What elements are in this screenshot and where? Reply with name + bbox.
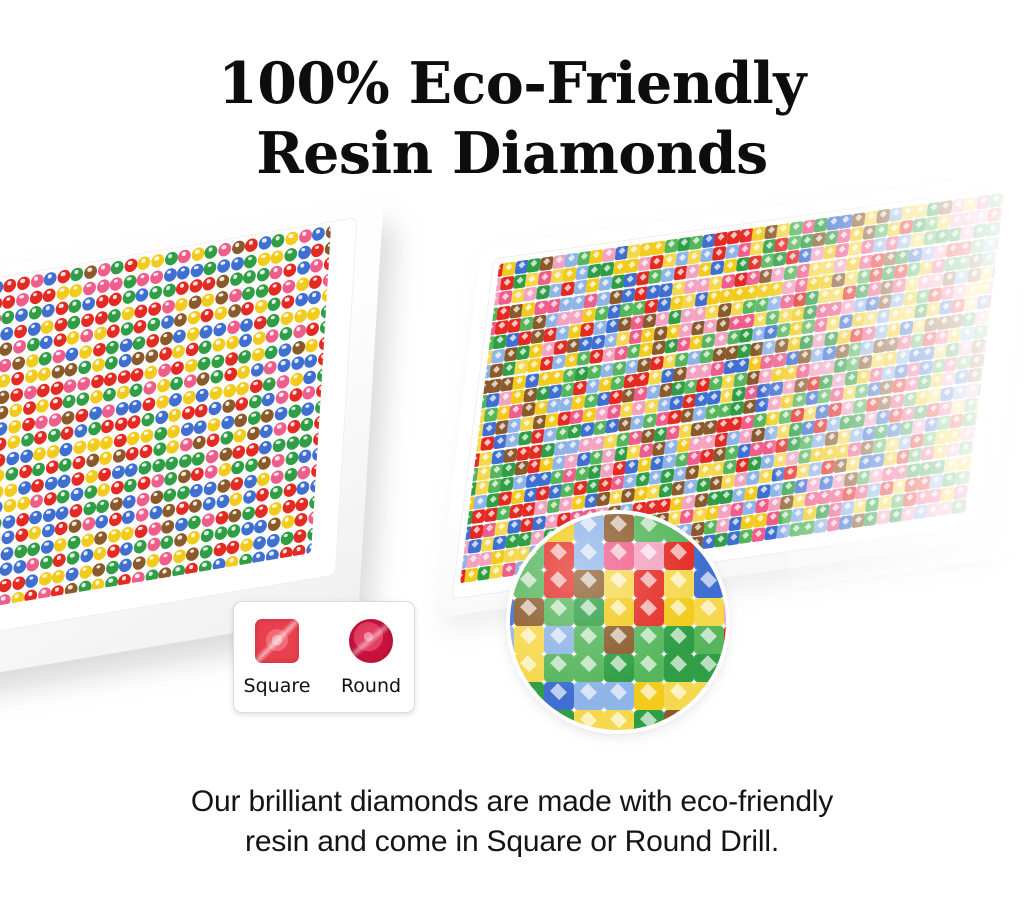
round-drill-bead bbox=[302, 385, 316, 400]
square-drill-bead bbox=[591, 335, 606, 350]
round-drill-bead bbox=[8, 418, 22, 433]
round-drill-bead bbox=[222, 398, 236, 413]
square-drill-bead bbox=[849, 227, 864, 242]
round-drill-bead bbox=[119, 557, 133, 572]
round-drill-bead bbox=[230, 256, 244, 271]
round-drill-bead bbox=[127, 430, 141, 445]
round-drill-bead bbox=[223, 383, 237, 398]
round-drill-bead bbox=[265, 344, 279, 359]
square-drill-bead bbox=[842, 285, 857, 300]
round-drill-bead bbox=[176, 500, 190, 515]
square-drill-bead bbox=[520, 417, 535, 432]
round-drill-bead bbox=[298, 449, 312, 464]
round-drill-bead bbox=[14, 543, 28, 558]
round-drill-bead bbox=[208, 401, 222, 416]
round-drill-bead bbox=[39, 350, 53, 365]
round-drill-bead bbox=[39, 571, 53, 586]
round-drill-bead bbox=[42, 507, 56, 522]
square-drill-bead bbox=[826, 416, 841, 431]
square-drill-bead bbox=[514, 460, 529, 475]
round-drill-bead bbox=[150, 489, 164, 504]
round-drill-bead bbox=[55, 521, 69, 536]
round-drill-bead bbox=[96, 278, 110, 293]
round-drill-bead bbox=[249, 378, 263, 393]
round-drill-bead bbox=[114, 416, 128, 431]
round-drill-bead bbox=[300, 417, 314, 432]
round-drill-bead bbox=[201, 308, 215, 323]
round-drill-bead bbox=[310, 258, 324, 273]
square-drill-bead bbox=[906, 262, 921, 277]
round-drill-bead bbox=[53, 552, 67, 567]
round-drill-bead bbox=[35, 414, 49, 429]
round-drill-bead bbox=[207, 417, 221, 432]
square-drill-bead bbox=[518, 431, 533, 446]
round-drill-bead bbox=[70, 267, 84, 282]
square-drill-bead bbox=[976, 195, 991, 210]
magnified-square-drill bbox=[544, 542, 574, 570]
round-drill-bead bbox=[141, 412, 155, 427]
square-drill-bead bbox=[903, 291, 918, 306]
round-drill-bead bbox=[272, 233, 286, 248]
round-drill-bead bbox=[183, 373, 197, 388]
round-drill-bead bbox=[96, 498, 110, 513]
round-drill-bead bbox=[297, 244, 311, 259]
round-drill-bead bbox=[210, 369, 224, 384]
magnified-square-drill bbox=[514, 626, 544, 654]
round-drill-bead bbox=[77, 376, 91, 391]
round-drill-bead bbox=[250, 362, 264, 377]
magnified-square-drill bbox=[604, 682, 634, 710]
square-drill-bead bbox=[701, 434, 716, 449]
round-drill-bead bbox=[160, 314, 174, 329]
round-drill-bead bbox=[155, 410, 169, 425]
round-drill-bead bbox=[129, 398, 143, 413]
round-drill-bead bbox=[193, 435, 207, 450]
magnified-square-drill bbox=[664, 598, 694, 626]
round-drill-bead bbox=[101, 419, 115, 434]
square-drill-bead bbox=[598, 276, 613, 291]
round-drill-bead bbox=[175, 516, 189, 531]
round-drill-bead bbox=[87, 421, 101, 436]
round-drill-bead bbox=[203, 276, 217, 291]
round-drill-bead bbox=[217, 478, 231, 493]
round-drill-bead bbox=[166, 439, 180, 454]
round-drill-bead bbox=[125, 462, 139, 477]
round-drill-bead bbox=[190, 482, 204, 497]
square-drill-bead bbox=[694, 492, 709, 507]
magnified-square-drill bbox=[544, 570, 574, 598]
square-drill-bead bbox=[938, 501, 953, 516]
round-drill-bead bbox=[0, 437, 7, 452]
round-drill-bead bbox=[212, 337, 226, 352]
square-drill-bead bbox=[955, 370, 970, 385]
square-drill-bead bbox=[887, 422, 902, 437]
round-drill-bead bbox=[215, 510, 229, 525]
round-drill-bead bbox=[81, 532, 95, 547]
round-drill-bead bbox=[75, 407, 89, 422]
round-drill-bead bbox=[126, 446, 140, 461]
round-drill-bead bbox=[268, 517, 282, 532]
square-drill-bead bbox=[595, 306, 610, 321]
square-drill-bead bbox=[589, 349, 604, 364]
round-drill-bead bbox=[295, 292, 309, 307]
round-drill-bead bbox=[257, 471, 271, 486]
round-drill-bead bbox=[268, 296, 282, 311]
round-drill-bead bbox=[60, 441, 74, 456]
round-drill-bead bbox=[69, 503, 83, 518]
magnified-square-drill bbox=[574, 570, 604, 598]
round-drill-bead bbox=[26, 337, 40, 352]
square-drill-bead bbox=[773, 352, 788, 367]
round-drill-bead bbox=[66, 330, 80, 345]
round-drill-bead bbox=[288, 403, 302, 418]
magnified-square-drill bbox=[664, 542, 694, 570]
round-drill-bead bbox=[51, 364, 65, 379]
square-drill-bead bbox=[714, 332, 729, 347]
round-drill-bead bbox=[294, 512, 308, 527]
square-drill-bead bbox=[972, 224, 987, 239]
round-drill-bead bbox=[304, 353, 318, 368]
round-drill-bead bbox=[12, 575, 26, 590]
round-drill-bead bbox=[93, 546, 107, 561]
round-drill-bead bbox=[95, 514, 109, 529]
round-drill-bead bbox=[16, 512, 30, 527]
round-drill-bead bbox=[100, 435, 114, 450]
round-drill-bead bbox=[247, 410, 261, 425]
round-drill-bead bbox=[40, 539, 54, 554]
round-drill-bead bbox=[15, 527, 29, 542]
round-drill-bead bbox=[225, 351, 239, 366]
round-drill-bead bbox=[64, 378, 78, 393]
round-drill-bead bbox=[251, 346, 265, 361]
magnified-square-drill bbox=[514, 542, 544, 570]
square-drill-bead bbox=[771, 367, 786, 382]
square-drill-bead bbox=[762, 440, 777, 455]
square-drill-bead bbox=[965, 282, 980, 297]
magnified-square-drill bbox=[604, 570, 634, 598]
round-drill-bead bbox=[43, 287, 57, 302]
square-drill-bead bbox=[758, 469, 773, 484]
round-drill-bead bbox=[83, 280, 97, 295]
round-drill-bead bbox=[191, 466, 205, 481]
round-drill-bead bbox=[157, 362, 171, 377]
round-drill-bead bbox=[98, 466, 112, 481]
round-drill-bead bbox=[29, 509, 43, 524]
round-drill-bead bbox=[123, 494, 137, 509]
round-drill-bead bbox=[281, 514, 295, 529]
magnified-square-drill bbox=[634, 682, 664, 710]
round-drill-bead bbox=[85, 469, 99, 484]
legend-gem-row bbox=[255, 619, 393, 663]
round-drill-bead bbox=[117, 369, 131, 384]
round-drill-bead bbox=[97, 262, 111, 277]
round-drill-bead bbox=[156, 394, 170, 409]
square-drill-bead bbox=[821, 460, 836, 475]
round-drill-bead bbox=[17, 496, 31, 511]
square-drill-bead bbox=[718, 303, 733, 318]
square-drill-bead bbox=[755, 498, 770, 513]
magnified-square-drill bbox=[544, 598, 574, 626]
square-drill-bead bbox=[769, 381, 784, 396]
headline-line-1: 100% Eco-Friendly bbox=[0, 52, 1024, 116]
round-drill-bead bbox=[256, 267, 270, 282]
square-drill-bead bbox=[516, 446, 531, 461]
square-drill-bead bbox=[707, 390, 722, 405]
round-drill-bead bbox=[160, 534, 174, 549]
round-drill-bead bbox=[44, 271, 58, 286]
round-drill-bead bbox=[241, 301, 255, 316]
round-drill-bead bbox=[20, 432, 34, 447]
round-drill-bead bbox=[84, 264, 98, 279]
round-drill-bead bbox=[109, 512, 123, 527]
round-drill-bead bbox=[255, 503, 269, 518]
round-drill-bead bbox=[105, 355, 119, 370]
round-drill-bead bbox=[217, 258, 231, 273]
square-drill-bead bbox=[653, 326, 668, 341]
round-drill-bead bbox=[253, 535, 267, 550]
round-drill-bead bbox=[218, 462, 232, 477]
round-drill-bead bbox=[68, 518, 82, 533]
round-drill-bead bbox=[173, 548, 187, 563]
round-drill-bead bbox=[286, 435, 300, 450]
round-drill-bead bbox=[163, 267, 177, 282]
round-drill-bead bbox=[226, 319, 240, 334]
round-drill-bead bbox=[133, 335, 147, 350]
round-drill-bead bbox=[148, 301, 162, 316]
round-drill-bead bbox=[256, 487, 270, 502]
square-drill-bead bbox=[833, 358, 848, 373]
round-drill-bead bbox=[134, 319, 148, 334]
square-drill-bead bbox=[949, 414, 964, 429]
round-drill-bead bbox=[220, 430, 234, 445]
square-drill-bead bbox=[844, 271, 859, 286]
round-drill-bead bbox=[106, 339, 120, 354]
round-drill-bead bbox=[226, 539, 240, 554]
round-drill-bead bbox=[296, 260, 310, 275]
magnified-square-drill bbox=[574, 542, 604, 570]
round-drill-bead bbox=[178, 249, 192, 264]
round-drill-bead bbox=[0, 341, 13, 356]
round-drill-bead bbox=[242, 285, 256, 300]
magnified-drill-row bbox=[510, 570, 726, 600]
square-drill-bead bbox=[539, 256, 554, 271]
round-drill-bead bbox=[79, 344, 93, 359]
magnified-square-drill bbox=[574, 598, 604, 626]
round-drill-bead bbox=[161, 299, 175, 314]
square-drill-bead bbox=[1001, 492, 1005, 507]
round-drill-bead bbox=[229, 271, 243, 286]
magnified-square-drill bbox=[574, 682, 604, 710]
round-drill-bead bbox=[103, 387, 117, 402]
round-drill-bead bbox=[68, 298, 82, 313]
square-drill-bead bbox=[815, 504, 830, 519]
magnified-square-drill bbox=[514, 570, 544, 598]
magnified-square-drill bbox=[694, 682, 724, 710]
round-drill-bead bbox=[38, 366, 52, 381]
round-drill-bead bbox=[257, 251, 271, 266]
round-drill-bead bbox=[30, 273, 44, 288]
square-drill-bead bbox=[848, 241, 863, 256]
round-drill-bead bbox=[147, 317, 161, 332]
round-drill-bead bbox=[245, 457, 259, 472]
round-drill-bead bbox=[0, 389, 10, 404]
magnified-square-drill bbox=[514, 514, 544, 542]
round-drill-bead bbox=[186, 326, 200, 341]
magnified-square-drill bbox=[634, 542, 664, 570]
square-drill-bead bbox=[787, 236, 802, 251]
round-drill-bead bbox=[124, 258, 138, 273]
round-drill-bead bbox=[0, 452, 6, 467]
round-drill-bead bbox=[203, 480, 217, 495]
magnified-square-drill bbox=[634, 710, 664, 730]
square-drill-bead bbox=[912, 218, 927, 233]
square-drill-bead bbox=[940, 486, 955, 501]
round-drill-bead bbox=[82, 516, 96, 531]
round-drill-bead bbox=[15, 307, 29, 322]
square-drill-bead bbox=[710, 361, 725, 376]
round-drill-bead bbox=[59, 457, 73, 472]
round-drill-bead bbox=[232, 444, 246, 459]
round-drill-bead bbox=[36, 398, 50, 413]
round-drill-bead bbox=[204, 464, 218, 479]
square-drill-bead bbox=[723, 259, 738, 274]
square-drill-bead bbox=[657, 297, 672, 312]
round-drill-bead bbox=[211, 353, 225, 368]
magnified-square-drill bbox=[724, 542, 726, 570]
round-drill-bead bbox=[120, 541, 134, 556]
round-drill-bead bbox=[237, 364, 251, 379]
round-drill-bead bbox=[66, 550, 80, 565]
round-drill-bead bbox=[245, 237, 259, 252]
round-drill-bead bbox=[165, 455, 179, 470]
round-drill-bead bbox=[311, 242, 325, 257]
round-drill-bead bbox=[243, 489, 257, 504]
round-drill-bead bbox=[57, 269, 71, 284]
round-drill-bead bbox=[260, 423, 274, 438]
round-drill-bead bbox=[157, 378, 171, 393]
square-drill-bead bbox=[878, 495, 893, 510]
round-drill-bead bbox=[218, 242, 232, 257]
round-drill-bead bbox=[287, 419, 301, 434]
round-drill-bead bbox=[39, 555, 53, 570]
magnified-closeup-circle bbox=[510, 514, 726, 730]
round-drill-bead bbox=[32, 462, 46, 477]
round-drill-bead bbox=[34, 430, 48, 445]
round-drill-bead bbox=[65, 362, 79, 377]
round-drill-bead bbox=[174, 312, 188, 327]
round-drill-bead bbox=[106, 559, 120, 574]
round-drill-bead bbox=[25, 573, 39, 588]
round-drill-bead bbox=[3, 498, 17, 513]
round-drill-bead bbox=[201, 512, 215, 527]
square-label: Square bbox=[242, 675, 312, 697]
round-drill-bead bbox=[111, 464, 125, 479]
round-drill-bead bbox=[120, 321, 134, 336]
square-drill-bead bbox=[511, 489, 526, 504]
round-drill-bead bbox=[84, 484, 98, 499]
round-drill-bead bbox=[240, 537, 254, 552]
magnified-square-drill bbox=[724, 626, 726, 654]
round-drill-bead bbox=[149, 505, 163, 520]
round-drill-bead bbox=[241, 521, 255, 536]
square-drill-bead bbox=[942, 472, 957, 487]
round-drill-bead bbox=[47, 428, 61, 443]
magnified-square-drill bbox=[514, 682, 544, 710]
square-drill-bead bbox=[646, 384, 661, 399]
round-drill-bead bbox=[308, 290, 322, 305]
square-drill-bead bbox=[532, 314, 547, 329]
square-drill-bead bbox=[817, 489, 832, 504]
magnified-square-drill bbox=[694, 514, 724, 542]
round-drill-bead bbox=[263, 376, 277, 391]
round-drill-bead bbox=[63, 394, 77, 409]
square-drill-bead bbox=[967, 268, 982, 283]
round-drill-bead bbox=[52, 568, 66, 583]
round-drill-bead bbox=[119, 337, 133, 352]
square-drill-bead bbox=[716, 317, 731, 332]
square-drill-bead bbox=[764, 425, 779, 440]
round-drill-bead bbox=[81, 312, 95, 327]
caption-line-1: Our brilliant diamonds are made with eco… bbox=[191, 785, 833, 818]
magnified-square-drill bbox=[724, 710, 726, 730]
round-drill-bead bbox=[192, 451, 206, 466]
round-drill-bead bbox=[80, 328, 94, 343]
magnified-drill-row bbox=[510, 598, 726, 628]
round-drill-bead bbox=[48, 412, 62, 427]
round-drill-bead bbox=[177, 265, 191, 280]
round-drill-bead bbox=[213, 541, 227, 556]
round-drill-bead bbox=[214, 525, 228, 540]
square-drill-bead bbox=[776, 323, 791, 338]
round-drill-bead bbox=[144, 364, 158, 379]
round-drill-bead bbox=[58, 473, 72, 488]
round-drill-bead bbox=[149, 285, 163, 300]
square-drill-bead bbox=[947, 428, 962, 443]
magnified-square-drill bbox=[664, 654, 694, 682]
round-drill-bead bbox=[1, 310, 15, 325]
round-drill-bead bbox=[285, 451, 299, 466]
round-drill-bead bbox=[247, 426, 261, 441]
round-drill-bead bbox=[26, 557, 40, 572]
round-drill-bead bbox=[299, 433, 313, 448]
square-drill-bead bbox=[725, 244, 740, 259]
round-drill-bead bbox=[205, 244, 219, 259]
round-drill-bead bbox=[164, 251, 178, 266]
magnified-square-drill bbox=[544, 514, 574, 542]
round-drill-bead bbox=[235, 396, 249, 411]
round-drill-bead bbox=[29, 289, 43, 304]
round-drill-bead bbox=[70, 487, 84, 502]
round-drill-bead bbox=[292, 340, 306, 355]
square-drill-bead bbox=[655, 311, 670, 326]
magnified-square-drill bbox=[574, 514, 604, 542]
square-drill-bead bbox=[876, 510, 891, 525]
round-drill-bead bbox=[205, 448, 219, 463]
square-drill-bead bbox=[635, 472, 650, 487]
magnified-square-drill bbox=[514, 598, 544, 626]
magnified-square-drill bbox=[604, 626, 634, 654]
round-drill-bead bbox=[123, 274, 137, 289]
round-drill-bead bbox=[248, 394, 262, 409]
square-drill-bead bbox=[662, 253, 677, 268]
square-drill-bead bbox=[700, 449, 715, 464]
round-drill-bead bbox=[33, 446, 47, 461]
round-drill-bead bbox=[132, 555, 146, 570]
round-drill-bead bbox=[182, 389, 196, 404]
square-drill-bead bbox=[705, 405, 720, 420]
round-drill-bead bbox=[233, 428, 247, 443]
round-drill-bead bbox=[269, 281, 283, 296]
